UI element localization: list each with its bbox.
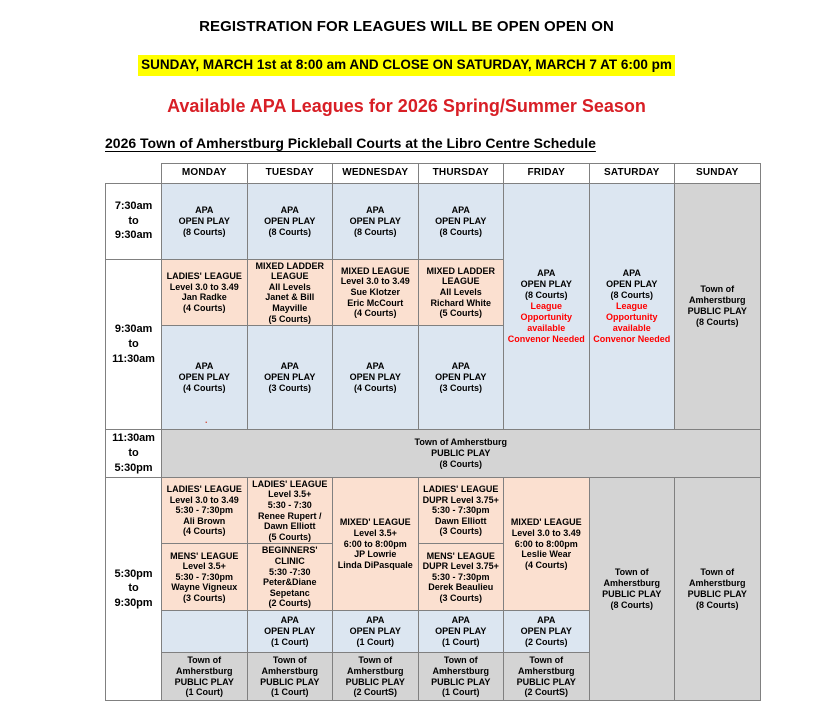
cell-line: OPEN PLAY	[334, 372, 417, 383]
cell-line: (2 CourtS)	[505, 687, 588, 698]
time-label-1130-0530: 11:30am to 5:30pm	[106, 430, 162, 478]
cell-line: 5:30 - 7:30pm	[420, 572, 503, 583]
cell-line: OPEN PLAY	[420, 626, 503, 637]
cell-line: OPEN PLAY	[334, 626, 417, 637]
cell-line: LEAGUE	[249, 271, 332, 282]
cell-line: LEAGUE	[420, 276, 503, 287]
cell-sat-evening-publicplay: Town of Amherstburg PUBLIC PLAY (8 Court…	[589, 477, 675, 700]
table-body: 7:30am to 9:30am APA OPEN PLAY (8 Courts…	[106, 183, 761, 701]
cell-line: Peter&Diane	[249, 577, 332, 588]
cell-afternoon-publicplay: Town of Amherstburg PUBLIC PLAY (8 Court…	[162, 430, 761, 478]
cell-line: OPEN PLAY	[420, 216, 503, 227]
cell-line: Sue Klotzer	[334, 287, 417, 298]
cell-line: (8 Courts)	[249, 227, 332, 238]
cell-line: OPEN PLAY	[591, 279, 674, 290]
cell-line: MIXED LEAGUE	[334, 266, 417, 277]
cell-line: OPEN PLAY	[249, 626, 332, 637]
cell-line: (8 Courts)	[505, 290, 588, 301]
cell-line: Amherstburg	[163, 666, 246, 677]
cell-line: LADIES' LEAGUE	[163, 271, 246, 282]
cell-mon-midmorning-league: LADIES' LEAGUE Level 3.0 to 3.49 Jan Rad…	[162, 259, 248, 326]
cell-wed-midmorning-league: MIXED LEAGUE Level 3.0 to 3.49 Sue Klotz…	[333, 259, 419, 326]
cell-line: OPEN PLAY	[505, 279, 588, 290]
table-header: MONDAY TUESDAY WEDNESDAY THURSDAY FRIDAY…	[106, 163, 761, 183]
cell-fri-evening-publicplay: Town of Amherstburg PUBLIC PLAY (2 Court…	[504, 653, 590, 701]
schedule-table: MONDAY TUESDAY WEDNESDAY THURSDAY FRIDAY…	[105, 163, 761, 702]
cell-mon-evening-league-bottom: MENS' LEAGUE Level 3.5+ 5:30 - 7:30pm Wa…	[162, 544, 248, 611]
cell-line: PUBLIC PLAY	[505, 677, 588, 688]
cell-line: PUBLIC PLAY	[591, 589, 674, 600]
cell-line: Sepetanc	[249, 588, 332, 599]
cell-line: JP Lowrie	[334, 549, 417, 560]
cell-line: Linda DiPasquale	[334, 560, 417, 571]
time-until: 5:30pm	[107, 461, 160, 476]
cell-sun-evening-publicplay: Town of Amherstburg PUBLIC PLAY (8 Court…	[675, 477, 761, 700]
cell-line: APA	[163, 205, 246, 216]
registration-heading: REGISTRATION FOR LEAGUES WILL BE OPEN OP…	[0, 18, 813, 35]
cell-line: APA	[420, 205, 503, 216]
cell-mon-evening-league-top: LADIES' LEAGUE Level 3.0 to 3.49 5:30 - …	[162, 477, 248, 544]
cell-line: BEGINNERS'	[249, 545, 332, 556]
cell-tue-midmorning-league: MIXED LADDER LEAGUE All Levels Janet & B…	[247, 259, 333, 326]
schedule-table-wrap: MONDAY TUESDAY WEDNESDAY THURSDAY FRIDAY…	[0, 163, 813, 702]
cell-line: Ali Brown	[163, 516, 246, 527]
season-title: Available APA Leagues for 2026 Spring/Su…	[0, 96, 813, 117]
time-until: 9:30pm	[107, 596, 160, 611]
cell-note-line: available	[591, 323, 674, 334]
cell-note-line: available	[505, 323, 588, 334]
header-tuesday: TUESDAY	[247, 163, 333, 183]
cell-line: MIXED LADDER	[420, 266, 503, 277]
cell-line: (8 Courts)	[676, 600, 759, 611]
cell-line: Amherstburg	[591, 578, 674, 589]
cell-line: Mayville	[249, 303, 332, 314]
cell-line: OPEN PLAY	[505, 626, 588, 637]
cell-line: Amherstburg	[505, 666, 588, 677]
cell-line: (8 Courts)	[334, 227, 417, 238]
time-from: 7:30am	[107, 199, 160, 214]
cell-line: APA	[420, 361, 503, 372]
cell-line: (8 Courts)	[163, 227, 246, 238]
cell-wed-evening-openplay: APA OPEN PLAY (1 Court)	[333, 611, 419, 653]
cell-thu-evening-league-top: LADIES' LEAGUE DUPR Level 3.75+ 5:30 - 7…	[418, 477, 504, 544]
cell-line: MENS' LEAGUE	[420, 551, 503, 562]
cell-line: 6:00 to 8:00pm	[334, 539, 417, 550]
cell-line: Dawn Elliott	[249, 521, 332, 532]
cell-line: (1 Court)	[163, 687, 246, 698]
row-evening-leagues-top: 5:30pm to 9:30pm LADIES' LEAGUE Level 3.…	[106, 477, 761, 544]
time-sep: to	[107, 337, 160, 352]
cell-fri-morning-openplay: APA OPEN PLAY (8 Courts) League Opportun…	[504, 183, 590, 430]
cell-note-line: Convenor Needed	[591, 334, 674, 345]
cell-line: Amherstburg	[249, 666, 332, 677]
cell-line: Town of	[591, 567, 674, 578]
cell-line: OPEN PLAY	[334, 216, 417, 227]
cell-line: PUBLIC PLAY	[163, 448, 759, 459]
cell-line: Town of	[676, 284, 759, 295]
cell-line: PUBLIC PLAY	[249, 677, 332, 688]
cell-mon-midmorning-openplay: APA OPEN PLAY (4 Courts) .	[162, 326, 248, 430]
cell-line: 5:30 - 7:30	[249, 500, 332, 511]
cell-line: MIXED' LEAGUE	[334, 517, 417, 528]
cell-line: (2 Courts)	[249, 598, 332, 609]
cell-sat-morning-openplay: APA OPEN PLAY (8 Courts) League Opportun…	[589, 183, 675, 430]
cell-line: (3 Courts)	[420, 593, 503, 604]
cell-line: (5 Courts)	[420, 308, 503, 319]
cell-thu-midmorning-league: MIXED LADDER LEAGUE All Levels Richard W…	[418, 259, 504, 326]
time-until: 9:30am	[107, 228, 160, 243]
schedule-subtitle: 2026 Town of Amherstburg Pickleball Cour…	[105, 135, 596, 151]
cell-fri-evening-openplay: APA OPEN PLAY (2 Courts)	[504, 611, 590, 653]
time-sep: to	[107, 214, 160, 229]
schedule-subtitle-wrap: 2026 Town of Amherstburg Pickleball Cour…	[0, 135, 813, 153]
cell-note-line: League	[591, 301, 674, 312]
header-row: MONDAY TUESDAY WEDNESDAY THURSDAY FRIDAY…	[106, 163, 761, 183]
cell-line: (5 Courts)	[249, 314, 332, 325]
cell-line: DUPR Level 3.75+	[420, 495, 503, 506]
cell-thu-evening-publicplay: Town of Amherstburg PUBLIC PLAY (1 Court…	[418, 653, 504, 701]
cell-line: (8 Courts)	[420, 227, 503, 238]
cell-mon-evening-openplay	[162, 611, 248, 653]
cell-sun-morning-publicplay: Town of Amherstburg PUBLIC PLAY (8 Court…	[675, 183, 761, 430]
cell-line: Amherstburg	[676, 295, 759, 306]
time-from: 11:30am	[107, 431, 160, 446]
cell-line: APA	[334, 615, 417, 626]
cell-line: Jan Radke	[163, 292, 246, 303]
cell-line: PUBLIC PLAY	[163, 677, 246, 688]
cell-line: Leslie Wear	[505, 549, 588, 560]
cell-wed-morning-openplay: APA OPEN PLAY (8 Courts)	[333, 183, 419, 259]
cell-line: APA	[591, 268, 674, 279]
cell-line: Janet & Bill	[249, 292, 332, 303]
cell-line: (3 Courts)	[420, 526, 503, 537]
cell-line: (4 Courts)	[334, 308, 417, 319]
header-saturday: SATURDAY	[589, 163, 675, 183]
cell-line: (2 CourtS)	[334, 687, 417, 698]
cell-line: LADIES' LEAGUE	[249, 479, 332, 490]
registration-window-highlight: SUNDAY, MARCH 1st at 8:00 am AND CLOSE O…	[138, 55, 675, 76]
cell-fri-evening-league: MIXED' LEAGUE Level 3.0 to 3.49 6:00 to …	[504, 477, 590, 610]
cell-line: Renee Rupert /	[249, 511, 332, 522]
cell-line: OPEN PLAY	[249, 216, 332, 227]
cell-line: (1 Court)	[420, 637, 503, 648]
header-thursday: THURSDAY	[418, 163, 504, 183]
header-wednesday: WEDNESDAY	[333, 163, 419, 183]
cell-tue-evening-publicplay: Town of Amherstburg PUBLIC PLAY (1 Court…	[247, 653, 333, 701]
cell-mon-evening-publicplay: Town of Amherstburg PUBLIC PLAY (1 Court…	[162, 653, 248, 701]
time-label-0530-0930: 5:30pm to 9:30pm	[106, 477, 162, 700]
cell-line: Town of	[420, 655, 503, 666]
cell-tue-evening-league-bottom: BEGINNERS' CLINIC 5:30 -7:30 Peter&Diane…	[247, 544, 333, 611]
registration-window-wrap: SUNDAY, MARCH 1st at 8:00 am AND CLOSE O…	[0, 55, 813, 76]
cell-line: OPEN PLAY	[249, 372, 332, 383]
cell-line: Level 3.5+	[334, 528, 417, 539]
cell-line: LADIES' LEAGUE	[420, 484, 503, 495]
time-sep: to	[107, 446, 160, 461]
cell-line: Level 3.5+	[163, 561, 246, 572]
header-corner	[106, 163, 162, 183]
cell-line: OPEN PLAY	[420, 372, 503, 383]
cell-line: OPEN PLAY	[163, 216, 246, 227]
cell-line: (1 Court)	[249, 637, 332, 648]
cell-line: (4 Courts)	[163, 526, 246, 537]
cell-line: LADIES' LEAGUE	[163, 484, 246, 495]
cell-line: Richard White	[420, 298, 503, 309]
cell-line: APA	[249, 615, 332, 626]
page-headings: REGISTRATION FOR LEAGUES WILL BE OPEN OP…	[0, 0, 813, 153]
cell-line: Amherstburg	[676, 578, 759, 589]
cell-line: Town of	[334, 655, 417, 666]
cell-line: Wayne Vigneux	[163, 582, 246, 593]
cell-line: All Levels	[420, 287, 503, 298]
cell-line: PUBLIC PLAY	[334, 677, 417, 688]
cell-line: Town of Amherstburg	[163, 437, 759, 448]
cell-line: PUBLIC PLAY	[676, 306, 759, 317]
cell-line: DUPR Level 3.75+	[420, 561, 503, 572]
time-until: 11:30am	[107, 352, 160, 367]
cell-line: Amherstburg	[420, 666, 503, 677]
cell-line: (3 Courts)	[420, 383, 503, 394]
cell-line: 5:30 - 7:30pm	[163, 505, 246, 516]
cell-tue-evening-league-top: LADIES' LEAGUE Level 3.5+ 5:30 - 7:30 Re…	[247, 477, 333, 544]
cell-line: (1 Court)	[249, 687, 332, 698]
cell-line: Level 3.0 to 3.49	[505, 528, 588, 539]
cell-line: APA	[505, 268, 588, 279]
header-monday: MONDAY	[162, 163, 248, 183]
cell-tue-evening-openplay: APA OPEN PLAY (1 Court)	[247, 611, 333, 653]
cell-line: (4 Courts)	[163, 383, 246, 394]
cell-thu-morning-openplay: APA OPEN PLAY (8 Courts)	[418, 183, 504, 259]
cell-line: Eric McCourt	[334, 298, 417, 309]
cell-wed-midmorning-openplay: APA OPEN PLAY (4 Courts)	[333, 326, 419, 430]
cell-line: (1 Court)	[334, 637, 417, 648]
cell-note-line: Convenor Needed	[505, 334, 588, 345]
cell-mon-morning-openplay: APA OPEN PLAY (8 Courts)	[162, 183, 248, 259]
cell-line: APA	[505, 615, 588, 626]
cell-line: Town of	[249, 655, 332, 666]
cell-line: (4 Courts)	[163, 303, 246, 314]
cell-line: Town of	[163, 655, 246, 666]
cell-tue-midmorning-openplay: APA OPEN PLAY (3 Courts)	[247, 326, 333, 430]
row-1130-0530-publicplay: 11:30am to 5:30pm Town of Amherstburg PU…	[106, 430, 761, 478]
cell-line: MIXED LADDER	[249, 261, 332, 272]
cell-line: OPEN PLAY	[163, 372, 246, 383]
time-label-0930-1130: 9:30am to 11:30am	[106, 259, 162, 430]
cell-line: MENS' LEAGUE	[163, 551, 246, 562]
cell-line: APA	[249, 361, 332, 372]
cell-line: APA	[420, 615, 503, 626]
cell-line: 5:30 - 7:30pm	[420, 505, 503, 516]
cell-wed-evening-publicplay: Town of Amherstburg PUBLIC PLAY (2 Court…	[333, 653, 419, 701]
cell-line: Town of	[676, 567, 759, 578]
cell-thu-midmorning-openplay: APA OPEN PLAY (3 Courts)	[418, 326, 504, 430]
cell-line: (3 Courts)	[163, 593, 246, 604]
cell-note-line: Opportunity	[591, 312, 674, 323]
cell-wed-evening-league: MIXED' LEAGUE Level 3.5+ 6:00 to 8:00pm …	[333, 477, 419, 610]
cell-thu-evening-openplay: APA OPEN PLAY (1 Court)	[418, 611, 504, 653]
cell-line: Amherstburg	[334, 666, 417, 677]
cell-tue-morning-openplay: APA OPEN PLAY (8 Courts)	[247, 183, 333, 259]
cell-line: (8 Courts)	[676, 317, 759, 328]
header-sunday: SUNDAY	[675, 163, 761, 183]
cell-line: (4 Courts)	[505, 560, 588, 571]
cell-line: Level 3.5+	[249, 489, 332, 500]
time-from: 9:30am	[107, 322, 160, 337]
cell-line: 6:00 to 8:00pm	[505, 539, 588, 550]
cell-line: (5 Courts)	[249, 532, 332, 543]
cell-line: (8 Courts)	[591, 600, 674, 611]
cell-note-line: Opportunity	[505, 312, 588, 323]
cell-note-line: League	[505, 301, 588, 312]
cell-line: 5:30 -7:30	[249, 567, 332, 578]
cell-line: APA	[163, 361, 246, 372]
cell-line: Level 3.0 to 3.49	[334, 276, 417, 287]
cell-line: APA	[334, 361, 417, 372]
cell-line: 5:30 - 7:30pm	[163, 572, 246, 583]
cell-line: (4 Courts)	[334, 383, 417, 394]
header-friday: FRIDAY	[504, 163, 590, 183]
cell-line: PUBLIC PLAY	[676, 589, 759, 600]
cell-line: Dawn Elliott	[420, 516, 503, 527]
cell-line: APA	[249, 205, 332, 216]
time-label-0730-0930: 7:30am to 9:30am	[106, 183, 162, 259]
cell-line: MIXED' LEAGUE	[505, 517, 588, 528]
cell-thu-evening-league-bottom: MENS' LEAGUE DUPR Level 3.75+ 5:30 - 7:3…	[418, 544, 504, 611]
cell-line: Derek Beaulieu	[420, 582, 503, 593]
cell-line: Level 3.0 to 3.49	[163, 282, 246, 293]
cell-line: CLINIC	[249, 556, 332, 567]
cell-line: APA	[334, 205, 417, 216]
cell-line: Level 3.0 to 3.49	[163, 495, 246, 506]
cell-line: (1 Court)	[420, 687, 503, 698]
cell-line: (8 Courts)	[163, 459, 759, 470]
cell-line: (3 Courts)	[249, 383, 332, 394]
row-0730-0930: 7:30am to 9:30am APA OPEN PLAY (8 Courts…	[106, 183, 761, 259]
time-from: 5:30pm	[107, 567, 160, 582]
cell-line: (2 Courts)	[505, 637, 588, 648]
cell-line: All Levels	[249, 282, 332, 293]
cell-line: Town of	[505, 655, 588, 666]
time-sep: to	[107, 581, 160, 596]
cell-line: (8 Courts)	[591, 290, 674, 301]
cell-line: PUBLIC PLAY	[420, 677, 503, 688]
